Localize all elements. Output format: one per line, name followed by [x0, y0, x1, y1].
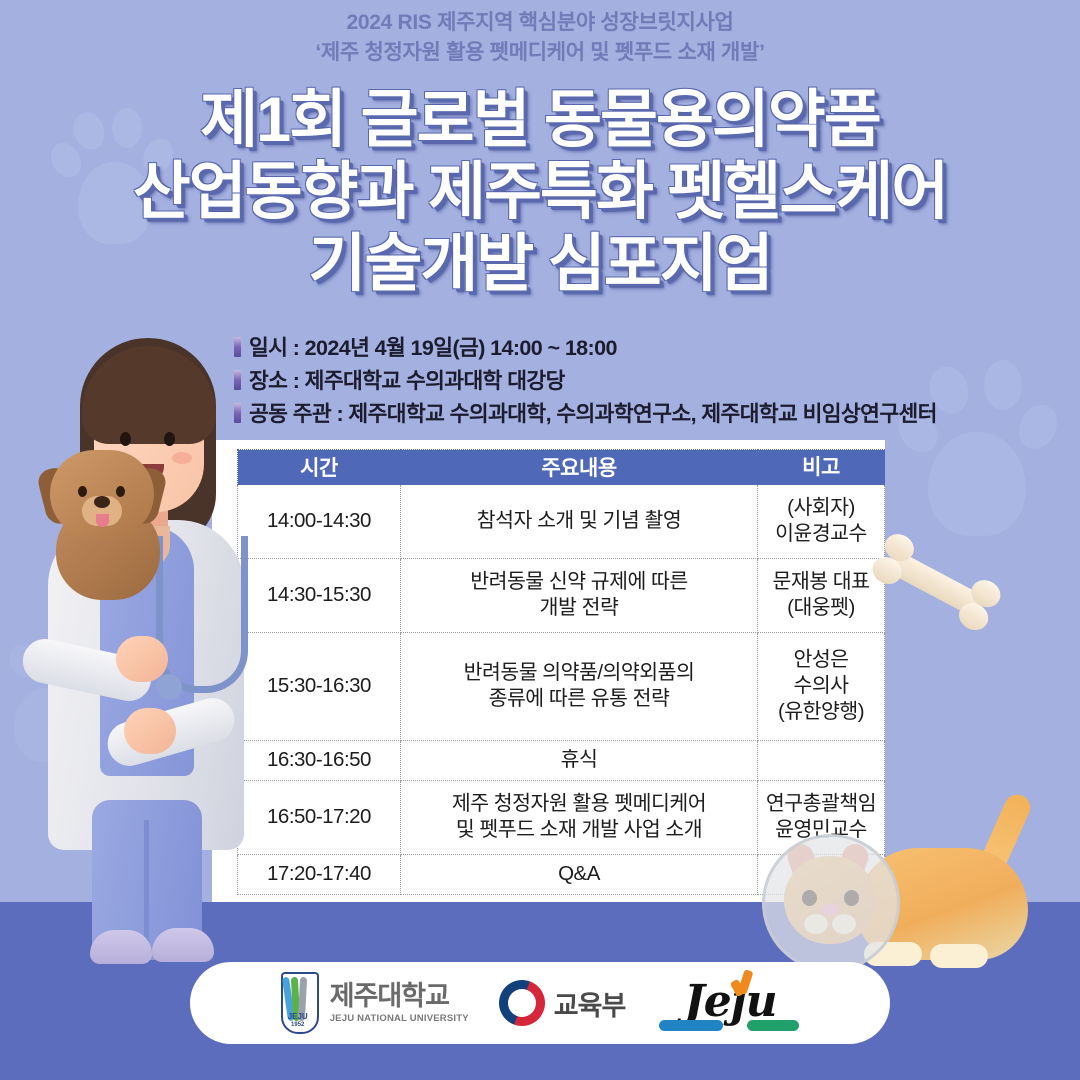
jeju-brush-green — [747, 1020, 799, 1031]
event-info-item: 장소 : 제주대학교 수의과대학 대강당 — [234, 363, 1074, 396]
poster-canvas: 2024 RIS 제주지역 핵심분야 성장브릿지사업 ‘제주 청정자원 활용 펫… — [0, 0, 1080, 1080]
cell-topic: Q&A — [401, 854, 758, 894]
logo-jeju-national-university: JEJU 1952 제주대학교 JEJU NATIONAL UNIVERSITY — [275, 972, 469, 1034]
cell-topic: 반려동물 신약 규제에 따른개발 전략 — [401, 558, 758, 632]
taegeuk-icon — [499, 980, 545, 1026]
event-info-item: 공동 주관 : 제주대학교 수의과대학, 수의과학연구소, 제주대학교 비임상연… — [234, 396, 1074, 429]
puppy-eye-right — [116, 486, 125, 497]
jnu-mark-text: JEJU — [275, 1012, 321, 1021]
table-row: 15:30-16:30반려동물 의약품/의약외품의종류에 따른 유통 전략안성은… — [238, 632, 885, 740]
cell-note: (사회자)이윤경교수 — [758, 485, 885, 559]
puppy-character — [40, 444, 172, 604]
cell-topic: 참석자 소개 및 기념 촬영 — [401, 485, 758, 559]
title-line-1: 제1회 글로벌 동물용의약품 — [0, 84, 1080, 156]
event-info-text: 일시 : 2024년 4월 19일(금) 14:00 ~ 18:00 — [249, 331, 617, 362]
cell-topic: 반려동물 의약품/의약외품의종류에 따른 유통 전략 — [401, 632, 758, 740]
cat-with-cone-character — [770, 830, 1050, 980]
sub-headline: 2024 RIS 제주지역 핵심분야 성장브릿지사업 ‘제주 청정자원 활용 펫… — [0, 8, 1080, 68]
puppy-tongue — [96, 514, 109, 527]
event-info-item: 일시 : 2024년 4월 19일(금) 14:00 ~ 18:00 — [234, 330, 1074, 363]
jeju-brush-blue — [659, 1020, 723, 1031]
vet-shoe-right — [152, 928, 214, 962]
stethoscope-chestpiece — [156, 674, 182, 700]
table-row: 14:00-14:30참석자 소개 및 기념 촬영(사회자)이윤경교수 — [238, 485, 885, 559]
sub-headline-line-2: ‘제주 청정자원 활용 펫메디케어 및 펫푸드 소재 개발’ — [0, 38, 1080, 68]
cell-note: 안성은수의사(유한양행) — [758, 632, 885, 740]
veterinarian-character — [28, 330, 268, 930]
logo-ministry-of-education: 교육부 — [499, 980, 626, 1026]
vet-shoe-left — [90, 930, 152, 964]
vet-hand-upper — [116, 636, 168, 682]
cat-paw — [930, 944, 988, 968]
cell-note — [758, 740, 885, 780]
sub-headline-line-1: 2024 RIS 제주지역 핵심분야 성장브릿지사업 — [0, 8, 1080, 38]
table-header-row: 시간 주요내용 비고 — [238, 450, 885, 485]
schedule-table: 시간 주요내용 비고 14:00-14:30참석자 소개 및 기념 촬영(사회자… — [237, 449, 885, 895]
table-row: 16:30-16:50휴식 — [238, 740, 885, 780]
jnu-name-en: JEJU NATIONAL UNIVERSITY — [330, 1014, 469, 1024]
cell-topic: 휴식 — [401, 740, 758, 780]
title-line-3: 기술개발 심포지엄 — [0, 228, 1080, 300]
vet-leg-split — [144, 820, 149, 950]
cell-topic: 제주 청정자원 활용 펫메디케어및 펫푸드 소재 개발 사업 소개 — [401, 780, 758, 854]
cell-note: 문재봉 대표(대웅펫) — [758, 558, 885, 632]
event-info-text: 공동 주관 : 제주대학교 수의과대학, 수의과학연구소, 제주대학교 비임상연… — [249, 397, 937, 428]
event-info-text: 장소 : 제주대학교 수의과대학 대강당 — [249, 364, 565, 395]
cone-collar-icon — [762, 834, 900, 972]
vet-hand-lower — [124, 708, 176, 754]
event-info-list: 일시 : 2024년 4월 19일(금) 14:00 ~ 18:00 장소 : … — [234, 330, 1074, 429]
page-title: 제1회 글로벌 동물용의약품 산업동향과 제주특화 펫헬스케어 기술개발 심포지… — [0, 84, 1080, 300]
sponsor-logo-bar: JEJU 1952 제주대학교 JEJU NATIONAL UNIVERSITY… — [190, 962, 890, 1044]
table-row: 14:30-15:30반려동물 신약 규제에 따른개발 전략문재봉 대표(대웅펫… — [238, 558, 885, 632]
moe-name-ko: 교육부 — [554, 984, 626, 1023]
jnu-name-ko: 제주대학교 — [330, 983, 469, 1010]
title-line-2: 산업동향과 제주특화 펫헬스케어 — [0, 156, 1080, 228]
vet-blush-right — [172, 452, 192, 464]
jnu-mark-year: 1952 — [275, 1022, 321, 1028]
puppy-eye-left — [78, 486, 87, 497]
jnu-emblem-icon: JEJU 1952 — [275, 972, 321, 1034]
column-header-topic: 주요내용 — [401, 450, 758, 485]
column-header-note: 비고 — [758, 450, 885, 485]
puppy-nose — [94, 496, 110, 508]
logo-jeju-brand: Jeju — [655, 972, 805, 1034]
jnu-wordmark: 제주대학교 JEJU NATIONAL UNIVERSITY — [330, 983, 469, 1024]
